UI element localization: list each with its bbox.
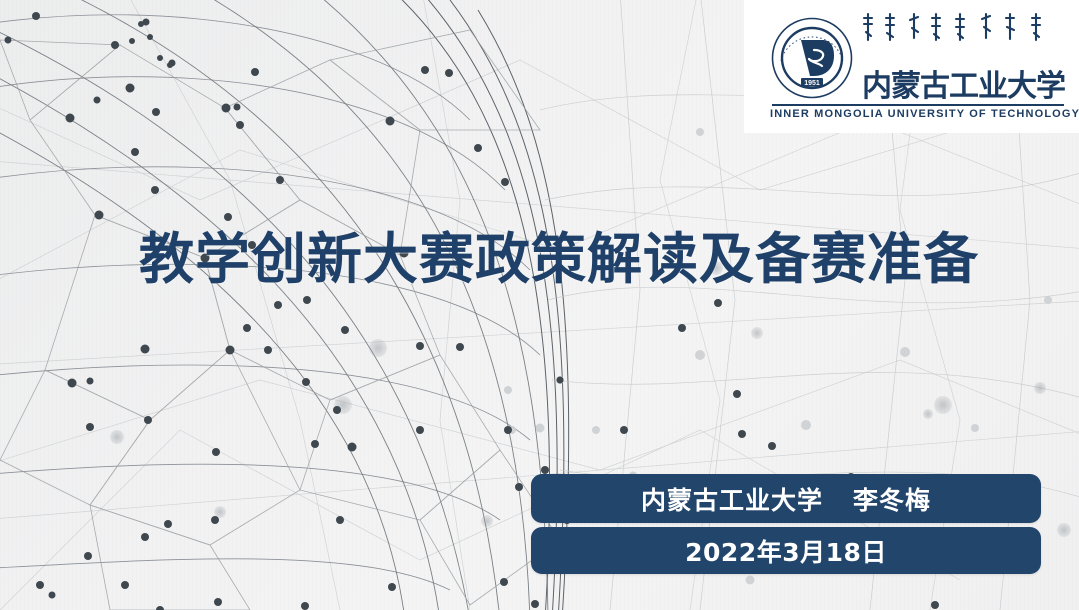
- presentation-date-bar: 2022年3月18日: [531, 527, 1041, 574]
- mongolian-script-row: [864, 14, 1040, 40]
- university-logo-plate: 1951: [744, 0, 1079, 133]
- affiliation-presenter-bar: 内蒙古工业大学 李冬梅: [531, 474, 1041, 523]
- presentation-date-text: 2022年3月18日: [685, 533, 887, 569]
- affiliation-text: 内蒙古工业大学: [641, 481, 823, 517]
- chinese-wordmark-text: 内蒙古工业大学: [862, 69, 1065, 104]
- slide-title: 教学创新大赛政策解读及备赛准备: [139, 228, 969, 290]
- emblem-year-text: 1951: [804, 80, 820, 87]
- university-emblem-icon: 1951: [770, 16, 854, 100]
- presentation-slide: 1951: [0, 0, 1079, 610]
- logo-divider-rule: [772, 104, 1064, 106]
- university-english-name: INNER MONGOLIA UNIVERSITY OF TECHNOLOGY: [770, 108, 1066, 120]
- university-chinese-wordmark: 内蒙古工业大学: [862, 12, 1066, 104]
- presenter-name: 李冬梅: [853, 481, 931, 517]
